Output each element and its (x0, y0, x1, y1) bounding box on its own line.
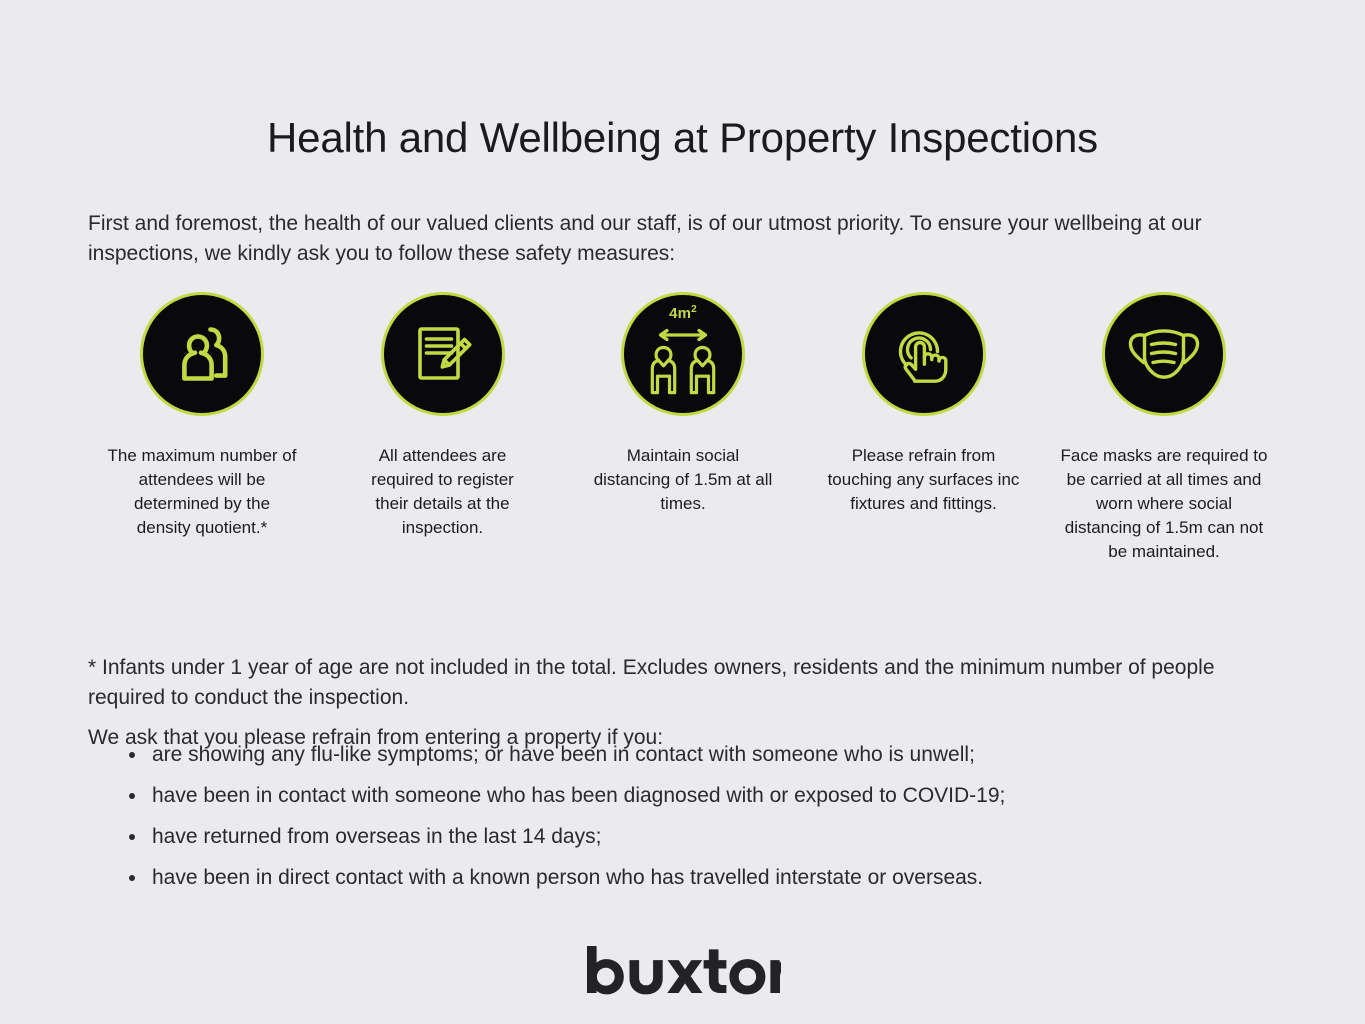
page-title: Health and Wellbeing at Property Inspect… (0, 114, 1365, 162)
measure-badge: 4m2 (621, 292, 745, 416)
list-item: have returned from overseas in the last … (126, 822, 1306, 852)
measure-item-distancing: 4m2 (569, 292, 797, 516)
social-distancing-icon (641, 325, 725, 397)
list-item-label: have been in direct contact with a known… (152, 866, 983, 889)
document-pencil-icon (408, 319, 478, 389)
face-mask-icon (1125, 323, 1203, 385)
badge-area-label: 4m2 (624, 304, 742, 322)
measure-badge (1102, 292, 1226, 416)
measure-item-mask: Face masks are required to be carried at… (1050, 292, 1278, 564)
refrain-list: are showing any flu-like symptoms; or ha… (126, 740, 1306, 904)
list-item-label: are showing any flu-like symptoms; or ha… (152, 743, 975, 766)
flyer-page: Health and Wellbeing at Property Inspect… (0, 0, 1365, 1024)
bullet-dot-icon (129, 834, 135, 840)
bullet-dot-icon (129, 875, 135, 881)
measure-caption: Please refrain from touching any surface… (825, 444, 1023, 516)
two-people-icon (165, 317, 239, 391)
measure-badge (381, 292, 505, 416)
measure-item-touch: Please refrain from touching any surface… (810, 292, 1038, 516)
bullet-dot-icon (129, 752, 135, 758)
buxton-logo (0, 944, 1365, 1009)
measure-item-register: All attendees are required to register t… (329, 292, 557, 540)
safety-measures-row: The maximum number of attendees will be … (88, 292, 1278, 564)
touch-hand-icon (889, 319, 959, 389)
bullet-dot-icon (129, 793, 135, 799)
measure-item-attendees: The maximum number of attendees will be … (88, 292, 316, 540)
list-item: are showing any flu-like symptoms; or ha… (126, 740, 1306, 770)
measure-badge (140, 292, 264, 416)
measure-caption: The maximum number of attendees will be … (107, 444, 297, 540)
intro-paragraph: First and foremost, the health of our va… (88, 209, 1238, 269)
measure-caption: Face masks are required to be carried at… (1059, 444, 1269, 564)
list-item-label: have returned from overseas in the last … (152, 825, 601, 848)
measure-caption: All attendees are required to register t… (355, 444, 531, 540)
list-item: have been in contact with someone who ha… (126, 781, 1306, 811)
measure-caption: Maintain social distancing of 1.5m at al… (593, 444, 773, 516)
footnote-text: * Infants under 1 year of age are not in… (88, 653, 1233, 713)
measure-badge (862, 292, 986, 416)
list-item-label: have been in contact with someone who ha… (152, 784, 1005, 807)
list-item: have been in direct contact with a known… (126, 863, 1306, 893)
